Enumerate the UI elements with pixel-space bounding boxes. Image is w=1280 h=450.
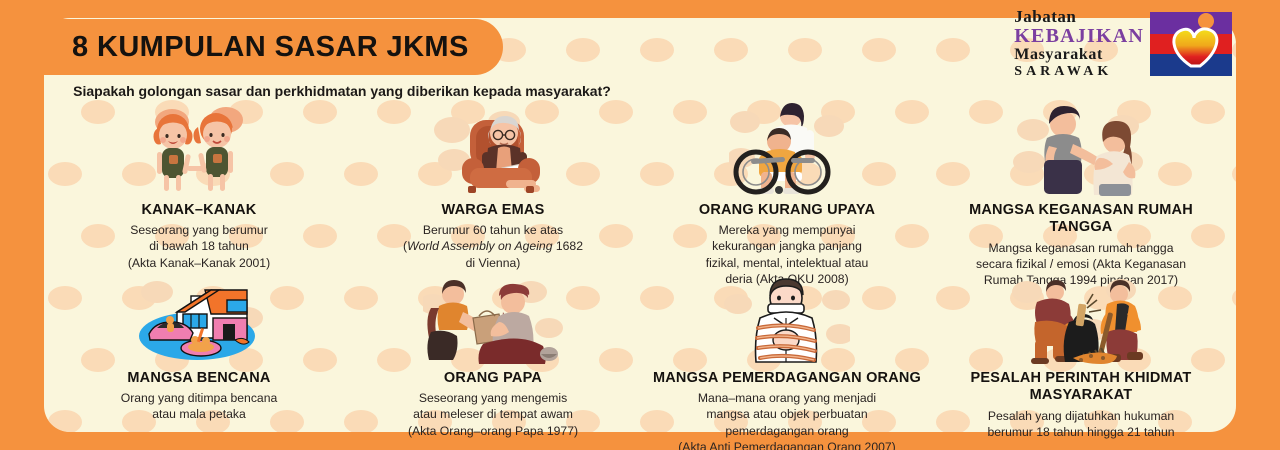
desc-line: Mangsa keganasan rumah tangga [976, 240, 1186, 256]
desc-line: mangsa atau objek perbuatan [678, 406, 895, 422]
logo-wordmark: Jabatan KEBAJIKAN Masyarakat SARAWAK [1014, 8, 1144, 79]
desc-line: Pesalah yang dijatuhkan hukuman [987, 408, 1174, 424]
desc-line: (Akta Orang–orang Papa 1977) [408, 423, 578, 439]
desc-line: berumur 18 tahun hingga 21 tahun [987, 424, 1174, 440]
page-title: 8 KUMPULAN SASAR JKMS [72, 31, 469, 64]
group-description: Berumur 60 tahun ke atas (World Assembly… [403, 222, 583, 270]
desc-line: pemerdagangan orang [678, 423, 895, 439]
group-description: Seseorang yang berumur di bawah 18 tahun… [128, 222, 270, 270]
infographic-poster: 8 KUMPULAN SASAR JKMS Jabatan KEBAJIKAN … [0, 0, 1280, 450]
desc-line: di bawah 18 tahun [128, 238, 270, 254]
group-card-orang-kurang-upaya[interactable]: ORANG KURANG UPAYA Mereka yang mempunyai… [640, 100, 934, 288]
group-card-warga-emas[interactable]: WARGA EMAS Berumur 60 tahun ke atas (Wor… [346, 100, 640, 288]
subtitle: Siapakah golongan sasar dan perkhidmatan… [62, 82, 622, 102]
elderly-in-armchair-icon [432, 100, 554, 196]
desc-line: (Akta Anti Pemerdagangan Orang 2007) [678, 439, 895, 450]
desc-line: Orang yang ditimpa bencana [121, 390, 278, 406]
heart-logo-icon [1148, 10, 1234, 78]
logo-line-jabatan: Jabatan [1014, 8, 1076, 25]
group-description: Pesalah yang dijatuhkan hukuman berumur … [987, 408, 1174, 440]
desc-line: Mereka yang mempunyai [706, 222, 869, 238]
desc-line: Berumur 60 tahun ke atas [403, 222, 583, 238]
desc-line: kekurangan jangka panjang [706, 238, 869, 254]
two-children-icon [140, 100, 258, 196]
group-card-mangsa-bencana[interactable]: MANGSA BENCANA Orang yang ditimpa bencan… [52, 268, 346, 450]
desc-line: Seseorang yang berumur [128, 222, 270, 238]
bound-person-icon [724, 268, 850, 364]
logo-line-kebajikan: KEBAJIKAN [1014, 26, 1144, 46]
background-dot [1232, 286, 1236, 310]
title-banner: 8 KUMPULAN SASAR JKMS [44, 19, 503, 75]
group-title: MANGSA KEGANASAN RUMAH TANGGA [942, 202, 1220, 237]
groups-row-2: MANGSA BENCANA Orang yang ditimpa bencan… [52, 268, 1228, 450]
domestic-violence-icon [1011, 100, 1151, 196]
desc-italic: World Assembly on Ageing [407, 239, 552, 253]
logo-line-sarawak: SARAWAK [1014, 65, 1112, 79]
background-dot [936, 38, 970, 62]
group-card-pesalah-perintah-khidmat-masyarakat[interactable]: PESALAH PERINTAH KHIDMAT MASYARAKAT Pesa… [934, 268, 1228, 450]
community-service-cleanup-icon [1011, 268, 1151, 364]
group-title: ORANG PAPA [444, 370, 542, 387]
group-description: Mana–mana orang yang menjadi mangsa atau… [678, 390, 895, 450]
flooded-house-icon [135, 268, 263, 364]
group-title: MANGSA BENCANA [127, 370, 270, 387]
group-title: KANAK–KANAK [142, 202, 257, 219]
desc-line: Mana–mana orang yang menjadi [678, 390, 895, 406]
background-dot [788, 38, 822, 62]
group-card-orang-papa[interactable]: ORANG PAPA Seseorang yang mengemis atau … [346, 268, 640, 450]
background-dot [714, 38, 748, 62]
jkms-logo: Jabatan KEBAJIKAN Masyarakat SARAWAK [1014, 8, 1234, 79]
desc-line: Seseorang yang mengemis [408, 390, 578, 406]
group-card-mangsa-pemerdagangan-orang[interactable]: MANGSA PEMERDAGANGAN ORANG Mana–mana ora… [640, 268, 934, 450]
background-dot [1232, 410, 1236, 432]
group-description: Seseorang yang mengemis atau meleser di … [408, 390, 578, 438]
homeless-person-icon [423, 268, 563, 364]
group-card-mangsa-keganasan-rumah-tangga[interactable]: MANGSA KEGANASAN RUMAH TANGGA Mangsa keg… [934, 100, 1228, 288]
desc-line: atau mala petaka [121, 406, 278, 422]
logo-line-masyarakat: Masyarakat [1014, 47, 1103, 63]
group-card-kanak-kanak[interactable]: KANAK–KANAK Seseorang yang berumur di ba… [52, 100, 346, 288]
groups-row-1: KANAK–KANAK Seseorang yang berumur di ba… [52, 100, 1228, 288]
desc-line: atau meleser di tempat awam [408, 406, 578, 422]
wheelchair-user-icon [729, 100, 845, 196]
background-dot [640, 38, 674, 62]
background-dot [862, 38, 896, 62]
group-title: WARGA EMAS [442, 202, 545, 219]
group-description: Orang yang ditimpa bencana atau mala pet… [121, 390, 278, 422]
background-dot [1232, 162, 1236, 186]
group-title: ORANG KURANG UPAYA [699, 202, 875, 219]
group-title: PESALAH PERINTAH KHIDMAT MASYARAKAT [942, 370, 1220, 405]
desc-line: (World Assembly on Ageing 1682 [403, 238, 583, 254]
group-title: MANGSA PEMERDAGANGAN ORANG [653, 370, 921, 387]
background-dot [566, 38, 600, 62]
